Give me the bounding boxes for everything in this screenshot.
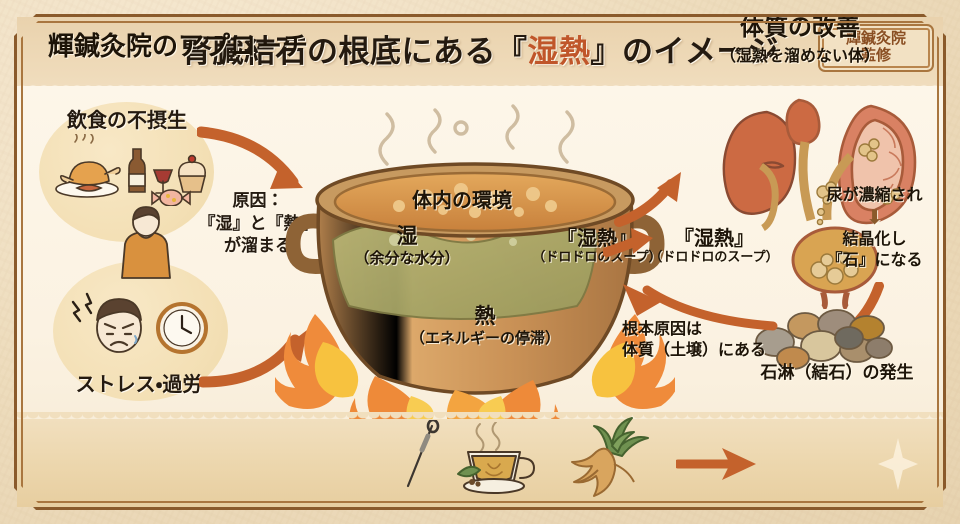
infographic-poster: 腎臓結石の根底にある『湿熱』のイメージ 輝鍼灸院 監修 xyxy=(0,0,960,524)
frame-inner-border xyxy=(21,21,939,503)
